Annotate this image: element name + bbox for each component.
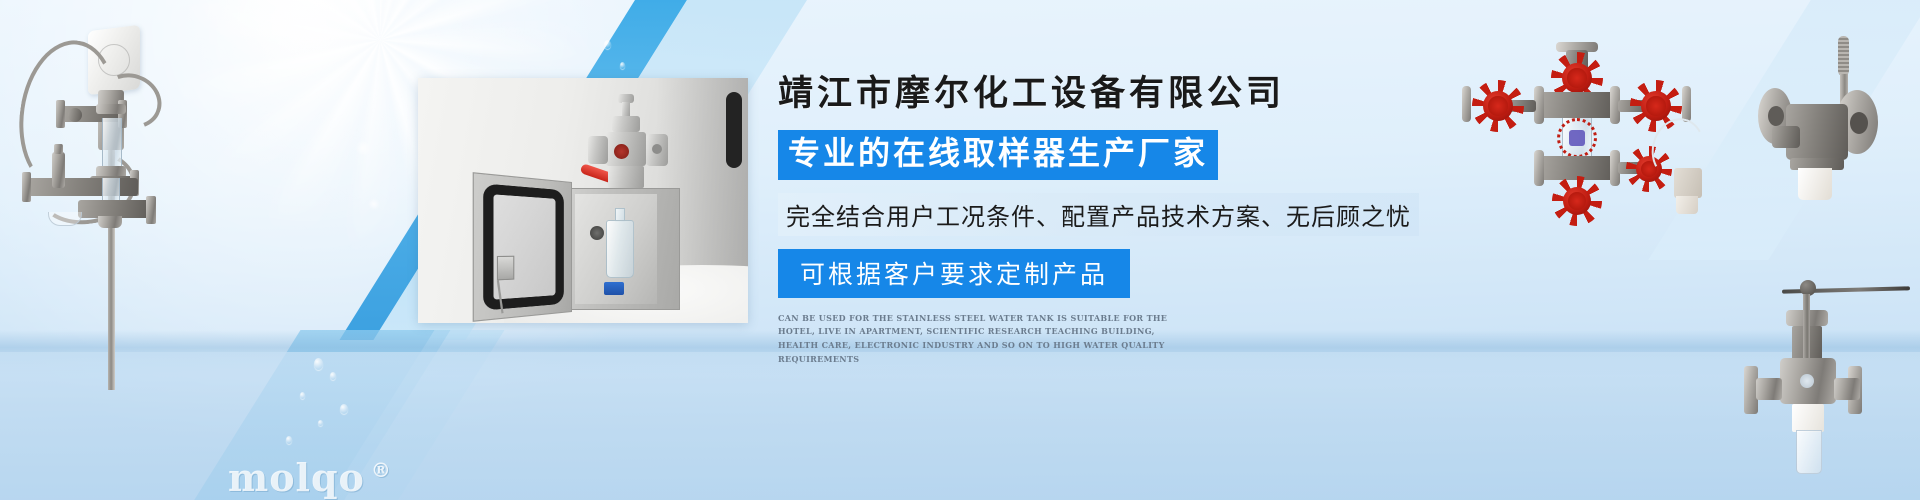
certification-seal-icon [1557, 118, 1597, 158]
brand-emblem-icon [614, 144, 629, 159]
drain-outlet [98, 216, 122, 228]
valve-lower-body [608, 166, 644, 188]
valve-stem [1803, 294, 1810, 360]
customization-highlight-band: 可根据客户要求定制产品 [778, 249, 1130, 298]
banner-text-block: 靖江市摩尔化工设备有限公司 专业的在线取样器生产厂家 完全结合用户工况条件、配置… [778, 72, 1408, 367]
handwheel-bottom [1563, 187, 1591, 215]
lens-flare-dot [355, 140, 371, 156]
accessory-tube [1676, 196, 1698, 214]
valve-flange [146, 196, 156, 224]
water-droplet-icon [286, 436, 292, 444]
valve-bonnet [612, 116, 640, 132]
valve-pipe-left [1756, 378, 1782, 400]
door-lock [497, 256, 514, 281]
sight-glass [102, 118, 122, 168]
registered-trademark-icon: ® [371, 458, 392, 482]
valve-flange [22, 172, 31, 202]
tagline-highlight-band: 专业的在线取样器生产厂家 [778, 130, 1218, 180]
valve-flange [1462, 86, 1471, 122]
water-droplet-icon [604, 40, 611, 49]
company-name: 靖江市摩尔化工设备有限公司 [778, 72, 1408, 116]
water-droplet-icon [318, 420, 323, 426]
cabinet-door [473, 172, 572, 322]
handwheel-right [1641, 91, 1671, 121]
flange-bore [1850, 112, 1868, 134]
lever-handle-grip [1838, 36, 1849, 76]
cabinet-side-handle [726, 92, 742, 168]
valve-pipe-right [1834, 378, 1860, 400]
relief-valve-cap [54, 144, 63, 154]
sample-bottle-clear [1796, 430, 1822, 474]
valve-body-horizontal [1540, 92, 1614, 118]
water-droplet-icon [314, 358, 323, 370]
flange-bore [1768, 106, 1784, 126]
valve-knob [68, 108, 82, 122]
sample-bottle-cap [604, 282, 624, 295]
sun-core-glow [185, 0, 415, 77]
watermark-logo: molqo® [228, 455, 392, 500]
center-product-photo [418, 78, 748, 323]
cabinet-port-hole [590, 226, 604, 240]
handwheel-left [1483, 91, 1513, 121]
valve-side-cap [1772, 126, 1800, 148]
valve-flange [96, 104, 126, 114]
promotional-banner: molqo® [0, 0, 1920, 500]
watermark-text: molqo [228, 455, 365, 500]
water-droplet-icon [340, 404, 348, 414]
valve-body [28, 178, 138, 196]
relief-valve [52, 152, 65, 188]
sample-outlet-cup [1798, 168, 1832, 200]
seal-mark [1569, 130, 1585, 146]
flange-bolt-hole [652, 144, 662, 154]
sub-tagline: 完全结合用户工况条件、配置产品技术方案、无后顾之忧 [778, 193, 1419, 236]
water-droplet-icon [330, 372, 336, 380]
valve-flange [1682, 86, 1691, 122]
lens-flare-dot [368, 198, 380, 210]
water-droplet-icon [300, 392, 305, 399]
valve-flange [56, 100, 65, 128]
english-description: CAN BE USED FOR THE STAINLESS STEEL WATE… [778, 312, 1198, 367]
sample-outlet-cup [1792, 404, 1824, 432]
handwheel-top [1562, 63, 1592, 93]
valve-flange [1534, 150, 1544, 186]
water-droplet-icon [620, 62, 625, 69]
door-gasket [483, 183, 564, 310]
brand-emblem-icon [1800, 374, 1814, 388]
sample-bottle [606, 220, 634, 278]
valve-flange-left [588, 136, 608, 164]
